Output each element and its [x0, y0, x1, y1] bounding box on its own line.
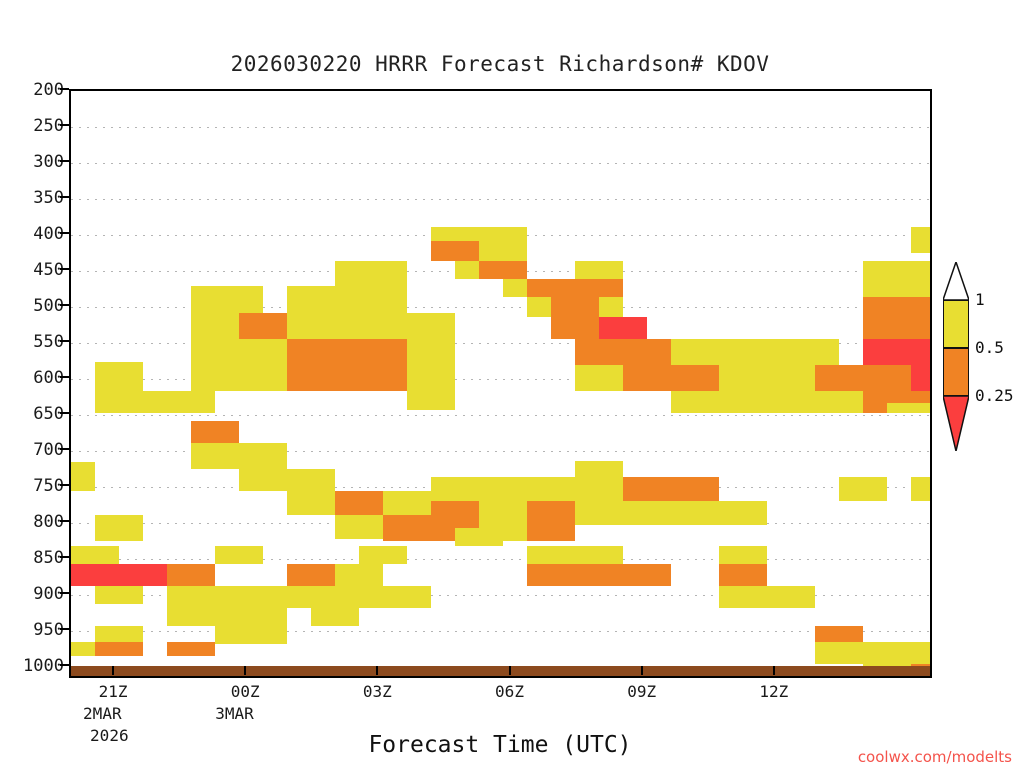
heatmap-cell	[407, 339, 455, 365]
y-axis-tick	[60, 448, 69, 450]
y-axis-label-450: 450	[0, 260, 64, 280]
x-axis-label-12Z: 12Z	[714, 682, 834, 701]
y-axis-label-200: 200	[0, 80, 64, 100]
gridline-350	[71, 199, 930, 200]
heatmap-cell	[287, 286, 335, 313]
y-axis-tick	[60, 628, 69, 630]
heatmap-cell	[863, 365, 911, 391]
heatmap-cell	[71, 642, 95, 656]
heatmap-cell	[719, 564, 767, 586]
x-axis-tick	[509, 666, 511, 675]
heatmap-cell	[479, 261, 527, 279]
heatmap-cell	[71, 546, 119, 564]
heatmap-cell	[95, 515, 143, 541]
y-axis-label-300: 300	[0, 152, 64, 172]
heatmap-cell	[671, 391, 767, 413]
x-axis-tick	[641, 666, 643, 675]
heatmap-cell	[431, 227, 479, 241]
heatmap-cell	[671, 339, 743, 365]
heatmap-cell	[599, 317, 647, 339]
heatmap-cell	[335, 491, 383, 515]
heatmap-cell	[815, 391, 863, 413]
y-axis-tick	[60, 556, 69, 558]
heatmap-cell	[167, 564, 215, 586]
heatmap-cell	[287, 586, 335, 608]
y-axis-tick	[60, 520, 69, 522]
x-axis-label-06Z: 06Z	[450, 682, 570, 701]
heatmap-cell	[191, 286, 263, 313]
heatmap-cell	[287, 339, 335, 391]
heatmap-cell	[815, 626, 863, 642]
x-axis-tick	[112, 666, 114, 675]
heatmap-cell	[383, 515, 431, 541]
colorbar-label-0.5: 0.5	[975, 338, 1004, 357]
heatmap-cell	[95, 642, 143, 656]
heatmap-cell	[191, 421, 239, 443]
heatmap-cell	[623, 501, 671, 525]
heatmap-cell	[863, 297, 932, 339]
heatmap-cell	[215, 586, 287, 644]
x-axis-label-00Z: 00Z	[185, 682, 305, 701]
colorbar-label-0.25: 0.25	[975, 386, 1014, 405]
heatmap-cell	[71, 564, 119, 586]
heatmap-cell	[407, 390, 455, 410]
heatmap-cell	[455, 528, 503, 546]
page-title: 2026030220 HRRR Forecast Richardson# KDO…	[0, 52, 1000, 76]
terrain-band	[69, 666, 932, 678]
heatmap-cell	[407, 313, 455, 339]
x-axis-tick	[773, 666, 775, 675]
gridline-850	[71, 559, 930, 560]
heatmap-cell	[335, 586, 383, 608]
heatmap-cell	[311, 608, 359, 626]
heatmap-cell	[719, 586, 767, 608]
y-axis-label-650: 650	[0, 404, 64, 424]
colorbar-label-1: 1	[975, 290, 985, 309]
heatmap-cell	[95, 626, 143, 642]
heatmap-cell	[359, 546, 407, 564]
heatmap-cell	[911, 339, 932, 391]
y-axis-label-900: 900	[0, 584, 64, 604]
y-axis-label-750: 750	[0, 476, 64, 496]
x-axis-tick	[244, 666, 246, 675]
heatmap-cell	[623, 564, 671, 586]
y-axis-tick	[60, 160, 69, 162]
y-axis-tick	[60, 664, 69, 666]
heatmap-cell	[863, 339, 911, 365]
heatmap-cell	[527, 546, 575, 564]
x-axis-label-09Z: 09Z	[582, 682, 702, 701]
heatmap-cell	[191, 339, 239, 365]
heatmap-cell	[239, 365, 287, 391]
heatmap-cell	[239, 339, 287, 365]
y-axis-tick	[60, 484, 69, 486]
y-axis-tick	[60, 304, 69, 306]
heatmap-cell	[839, 477, 887, 501]
y-axis-label-500: 500	[0, 296, 64, 316]
x-axis-label-21Z: 21Z	[53, 682, 173, 701]
heatmap-cell	[575, 564, 623, 586]
heatmap-cell	[287, 469, 335, 491]
heatmap-cell	[527, 564, 575, 586]
heatmap-cell	[671, 365, 719, 391]
y-axis-tick	[60, 592, 69, 594]
heatmap-cell	[791, 339, 839, 365]
heatmap-cell	[191, 313, 239, 339]
heatmap-cell	[383, 491, 431, 515]
heatmap-cell	[719, 501, 767, 525]
y-axis-label-850: 850	[0, 548, 64, 568]
heatmap-cell	[527, 477, 575, 501]
y-axis-tick	[60, 376, 69, 378]
heatmap-cell	[575, 501, 623, 525]
x-axis-date-label: 2MAR	[83, 704, 203, 723]
heatmap-cell	[239, 313, 287, 339]
credit-watermark: coolwx.com/modelts	[858, 748, 1012, 766]
heatmap-cell	[335, 261, 407, 313]
heatmap-cell	[191, 443, 239, 469]
heatmap-cell	[575, 365, 623, 391]
colorbar-segment	[943, 348, 969, 396]
heatmap-cell	[167, 642, 215, 656]
heatmap-cell	[239, 443, 287, 469]
gridline-250	[71, 127, 930, 128]
heatmap-cell	[767, 365, 815, 391]
heatmap-cell	[671, 501, 719, 525]
heatmap-cell	[431, 477, 527, 501]
heatmap-plot-area[interactable]	[69, 89, 932, 676]
heatmap-cell	[287, 491, 335, 515]
heatmap-cell	[887, 642, 932, 664]
y-axis-tick	[60, 268, 69, 270]
y-axis-tick	[60, 88, 69, 90]
y-axis-label-400: 400	[0, 224, 64, 244]
heatmap-cell	[767, 391, 815, 413]
heatmap-cell	[167, 604, 215, 626]
gridline-950	[71, 631, 930, 632]
heatmap-cell	[335, 339, 407, 391]
heatmap-cell	[215, 546, 263, 564]
heatmap-cell	[407, 365, 455, 391]
heatmap-cell	[815, 642, 887, 664]
heatmap-cell	[575, 546, 623, 564]
heatmap-cell	[551, 317, 599, 339]
heatmap-cell	[623, 365, 671, 391]
gridline-300	[71, 163, 930, 164]
y-axis-label-350: 350	[0, 188, 64, 208]
heatmap-cell	[863, 391, 932, 403]
heatmap-cell	[287, 313, 335, 339]
heatmap-cell	[623, 477, 719, 501]
heatmap-cell	[911, 477, 932, 501]
heatmap-cell	[719, 546, 767, 564]
heatmap-cell	[767, 586, 815, 608]
heatmap-cell	[527, 279, 575, 297]
heatmap-cell	[191, 365, 239, 391]
heatmap-cell	[431, 241, 479, 261]
y-axis-label-700: 700	[0, 440, 64, 460]
x-axis-date-label: 3MAR	[215, 704, 335, 723]
y-axis-label-1000: 1000	[0, 656, 64, 676]
heatmap-cell	[911, 227, 932, 253]
y-axis-label-800: 800	[0, 512, 64, 532]
x-axis-year-label: 2026	[90, 726, 210, 745]
heatmap-cell	[575, 461, 623, 501]
heatmap-cell	[143, 391, 191, 413]
heatmap-cell	[815, 365, 863, 391]
x-axis-label-03Z: 03Z	[317, 682, 437, 701]
heatmap-cell	[239, 469, 287, 491]
y-axis-label-950: 950	[0, 620, 64, 640]
heatmap-cell	[623, 339, 671, 365]
colorbar-segment	[943, 300, 969, 348]
y-axis-tick	[60, 232, 69, 234]
heatmap-cell	[527, 501, 575, 541]
y-axis-label-550: 550	[0, 332, 64, 352]
heatmap-cell	[95, 362, 143, 391]
heatmap-cell	[335, 313, 407, 339]
colorbar-legend: 10.50.25	[943, 300, 969, 445]
heatmap-cell	[479, 227, 527, 261]
y-axis-label-250: 250	[0, 116, 64, 136]
colorbar-over-arrow	[943, 262, 969, 300]
x-axis-tick	[376, 666, 378, 675]
heatmap-cell	[95, 586, 143, 604]
colorbar-under-arrow	[943, 396, 969, 451]
y-axis-label-600: 600	[0, 368, 64, 388]
y-axis-tick	[60, 196, 69, 198]
heatmap-cell	[551, 297, 599, 317]
chart-root: 2026030220 HRRR Forecast Richardson# KDO…	[0, 0, 1024, 768]
y-axis-tick	[60, 340, 69, 342]
heatmap-cell	[71, 462, 95, 491]
y-axis-tick	[60, 412, 69, 414]
gridline-650	[71, 415, 930, 416]
heatmap-cell	[383, 586, 431, 608]
heatmap-cell	[335, 564, 383, 586]
y-axis-tick	[60, 124, 69, 126]
heatmap-cell	[335, 515, 383, 539]
heatmap-cell	[575, 279, 623, 297]
heatmap-cell	[119, 564, 167, 586]
